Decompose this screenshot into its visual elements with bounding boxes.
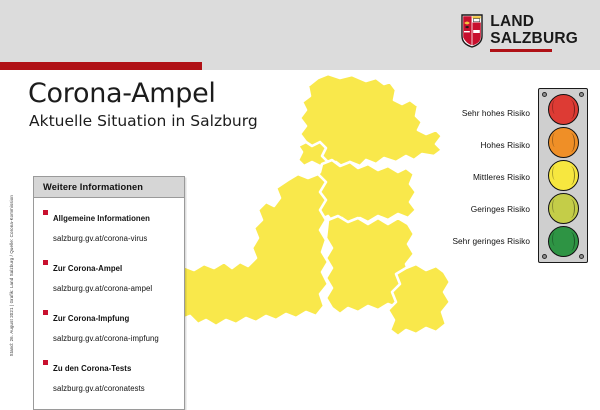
district-pinzgau bbox=[174, 174, 328, 326]
legend-label-mittleres-risiko: Mittleres Risiko bbox=[438, 161, 530, 193]
salzburg-coat-of-arms-icon bbox=[461, 14, 483, 48]
land-salzburg-logo: LAND SALZBURG bbox=[461, 14, 578, 52]
info-item-label: Zur Corona-Ampel bbox=[53, 264, 122, 273]
district-lungau bbox=[388, 264, 450, 336]
credit-line: Stand: 26. August 2021 | Grafik: Land Sa… bbox=[9, 195, 14, 356]
info-box-body: Allgemeine Informationen salzburg.gv.at/… bbox=[34, 198, 184, 409]
lamp-sehr-hohes-risiko bbox=[548, 94, 579, 125]
square-bullet-icon bbox=[43, 260, 48, 265]
risk-legend: Sehr hohes Risiko Hohes Risiko Mittleres… bbox=[438, 88, 588, 263]
list-item[interactable]: Zur Corona-Impfung salzburg.gv.at/corona… bbox=[43, 307, 176, 348]
info-item-url[interactable]: salzburg.gv.at/corona-impfung bbox=[53, 334, 159, 343]
header-red-accent-bar bbox=[0, 62, 202, 70]
logo-line-1: LAND bbox=[490, 14, 578, 30]
list-item[interactable]: Zu den Corona-Tests salzburg.gv.at/coron… bbox=[43, 357, 176, 398]
lamp-mittleres-risiko bbox=[548, 160, 579, 191]
screw-top-right-icon bbox=[579, 92, 584, 97]
logo-wordmark: LAND SALZBURG bbox=[490, 14, 578, 52]
info-item-label: Zur Corona-Impfung bbox=[53, 314, 129, 323]
logo-line-2: SALZBURG bbox=[490, 31, 578, 47]
legend-label-hohes-risiko: Hohes Risiko bbox=[438, 129, 530, 161]
square-bullet-icon bbox=[43, 310, 48, 315]
salzburg-district-map bbox=[170, 72, 470, 372]
legend-label-sehr-hohes-risiko: Sehr hohes Risiko bbox=[438, 97, 530, 129]
info-box: Weitere Informationen Allgemeine Informa… bbox=[33, 176, 185, 410]
screw-top-left-icon bbox=[542, 92, 547, 97]
traffic-light-icon bbox=[538, 88, 588, 263]
info-item-url[interactable]: salzburg.gv.at/coronatests bbox=[53, 384, 145, 393]
lamp-hohes-risiko bbox=[548, 127, 579, 158]
screw-bottom-right-icon bbox=[579, 254, 584, 259]
lamp-geringes-risiko bbox=[548, 193, 579, 224]
list-item[interactable]: Zur Corona-Ampel salzburg.gv.at/corona-a… bbox=[43, 257, 176, 298]
screw-bottom-left-icon bbox=[542, 254, 547, 259]
info-item-url[interactable]: salzburg.gv.at/corona-virus bbox=[53, 234, 147, 243]
square-bullet-icon bbox=[43, 360, 48, 365]
list-item[interactable]: Allgemeine Informationen salzburg.gv.at/… bbox=[43, 207, 176, 248]
info-item-label: Zu den Corona-Tests bbox=[53, 364, 131, 373]
info-item-label: Allgemeine Informationen bbox=[53, 214, 150, 223]
legend-labels: Sehr hohes Risiko Hohes Risiko Mittleres… bbox=[438, 88, 530, 257]
district-tennengau bbox=[314, 160, 416, 224]
logo-underline bbox=[490, 49, 552, 52]
legend-label-geringes-risiko: Geringes Risiko bbox=[438, 193, 530, 225]
lamp-sehr-geringes-risiko bbox=[548, 226, 579, 257]
legend-label-sehr-geringes-risiko: Sehr geringes Risiko bbox=[438, 225, 530, 257]
square-bullet-icon bbox=[43, 210, 48, 215]
info-box-title: Weitere Informationen bbox=[34, 177, 184, 198]
info-item-url[interactable]: salzburg.gv.at/corona-ampel bbox=[53, 284, 152, 293]
